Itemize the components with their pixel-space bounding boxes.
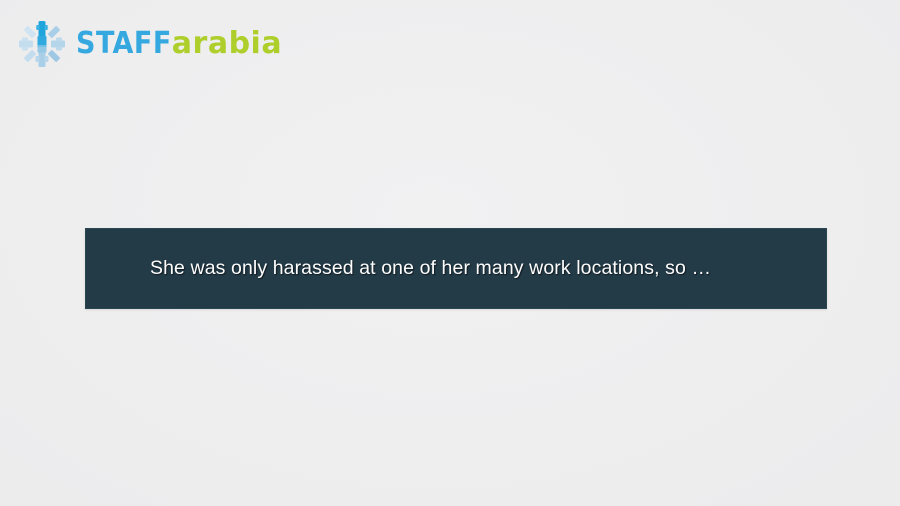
logo-wordmark: STAFF arabia: [76, 29, 282, 59]
logo-word-staff: STAFF: [76, 29, 172, 59]
caption-bar: She was only harassed at one of her many…: [85, 228, 827, 309]
logo-word-arabia: arabia: [172, 29, 282, 59]
staffarabia-logo[interactable]: STAFF arabia: [18, 16, 282, 72]
caption-text: She was only harassed at one of her many…: [86, 257, 711, 280]
snowflake-asterisk-icon: [18, 20, 66, 68]
slide-canvas: STAFF arabia She was only harassed at on…: [0, 0, 900, 506]
